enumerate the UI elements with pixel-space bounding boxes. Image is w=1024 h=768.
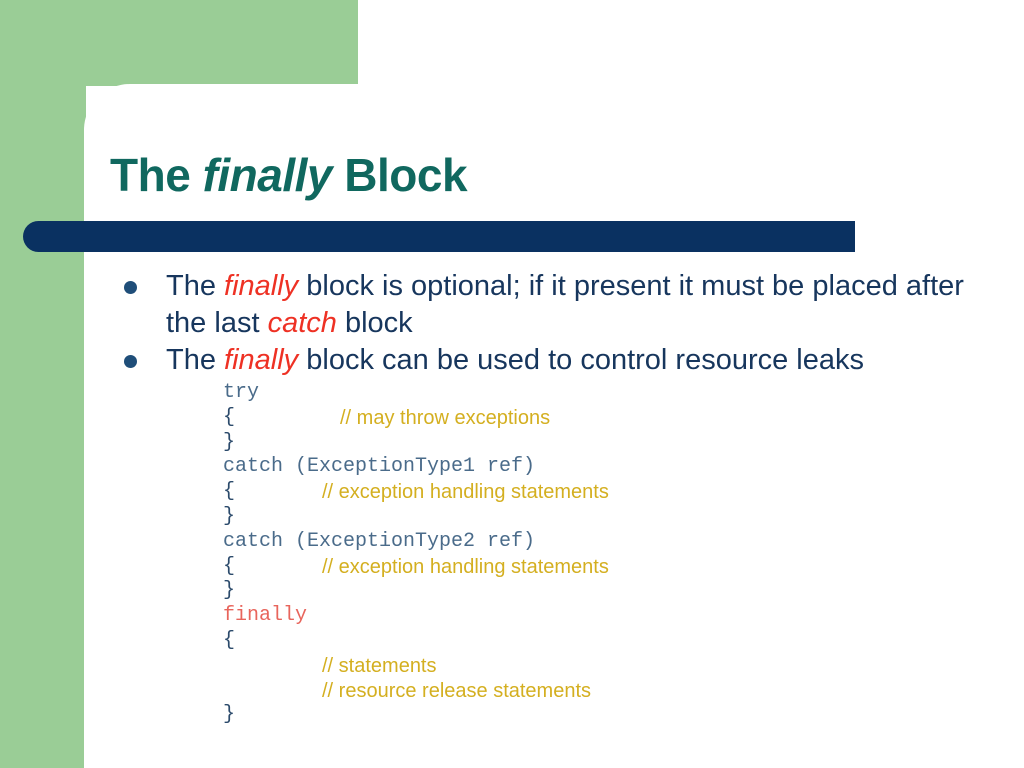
bullet-item: The finally block can be used to control… bbox=[118, 342, 1008, 379]
code-comment: // resource release statements bbox=[322, 679, 591, 704]
green-accent-left bbox=[0, 80, 86, 768]
bullet-text: The bbox=[166, 344, 224, 376]
code-token: finally bbox=[223, 604, 307, 627]
code-line: } bbox=[223, 431, 923, 456]
title-underline-bar bbox=[23, 221, 855, 252]
code-comment: // may throw exceptions bbox=[340, 406, 550, 431]
bullet-text: block bbox=[337, 307, 413, 339]
code-line: // statements bbox=[223, 654, 923, 679]
code-token: try bbox=[223, 381, 259, 404]
code-token: catch (ExceptionType2 ref) bbox=[223, 530, 535, 553]
code-line: } bbox=[223, 505, 923, 530]
green-accent-top bbox=[0, 0, 358, 86]
code-line: catch (ExceptionType2 ref) bbox=[223, 530, 923, 555]
title-suffix: Block bbox=[332, 149, 467, 201]
code-line: // resource release statements bbox=[223, 679, 923, 704]
bullet-text: block can be used to control resource le… bbox=[298, 344, 864, 376]
bullet-text: The bbox=[166, 270, 224, 302]
code-line: catch (ExceptionType1 ref) bbox=[223, 455, 923, 480]
bullet-dot-icon bbox=[124, 281, 137, 294]
code-line: { bbox=[223, 629, 923, 654]
bullet-keyword: finally bbox=[224, 344, 298, 376]
bullet-keyword: finally bbox=[224, 270, 298, 302]
code-token: catch (ExceptionType1 ref) bbox=[223, 455, 535, 478]
code-line: } bbox=[223, 703, 923, 728]
page-title: The finally Block bbox=[110, 148, 467, 202]
code-line: finally bbox=[223, 604, 923, 629]
code-token: } bbox=[223, 505, 235, 528]
code-line: {// exception handling statements bbox=[223, 555, 923, 580]
bullet-list: The finally block is optional; if it pre… bbox=[118, 268, 1008, 379]
bullet-item: The finally block is optional; if it pre… bbox=[118, 268, 1008, 342]
code-line: {// may throw exceptions bbox=[223, 406, 923, 431]
code-token: } bbox=[223, 579, 235, 602]
code-comment: // statements bbox=[322, 654, 437, 679]
title-prefix: The bbox=[110, 149, 203, 201]
code-token: { bbox=[223, 406, 235, 429]
code-token: } bbox=[223, 703, 235, 726]
title-keyword: finally bbox=[203, 149, 332, 201]
code-sample: try{// may throw exceptions}catch (Excep… bbox=[223, 381, 923, 728]
code-token: { bbox=[223, 480, 235, 503]
code-token: } bbox=[223, 431, 235, 454]
code-token: { bbox=[223, 629, 235, 652]
slide-canvas: The finally Block The finally block is o… bbox=[0, 0, 1024, 768]
code-comment: // exception handling statements bbox=[322, 555, 609, 580]
code-line: try bbox=[223, 381, 923, 406]
bullet-keyword: catch bbox=[268, 307, 337, 339]
code-line: } bbox=[223, 579, 923, 604]
code-line: {// exception handling statements bbox=[223, 480, 923, 505]
bullet-dot-icon bbox=[124, 355, 137, 368]
code-token: { bbox=[223, 555, 235, 578]
code-comment: // exception handling statements bbox=[322, 480, 609, 505]
